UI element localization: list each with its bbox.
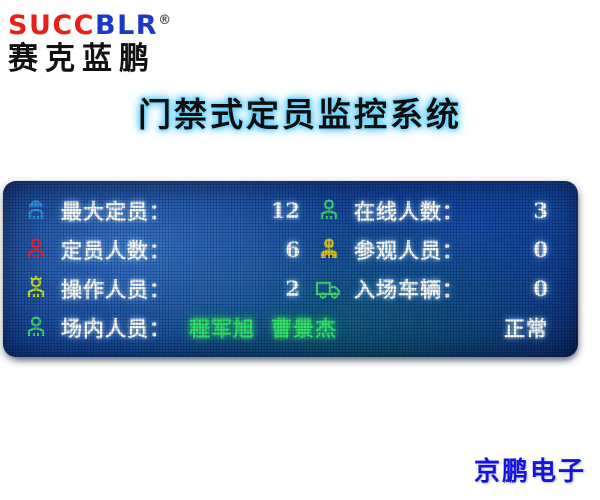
person-hardhat-icon <box>21 196 51 226</box>
led-label: 在线人数： <box>354 196 464 226</box>
person-icon <box>21 235 51 265</box>
person-operator-icon <box>21 274 51 304</box>
led-value: 2 <box>285 276 314 301</box>
onsite-name: 曹景杰 <box>271 313 337 343</box>
led-field-online-count: 在线人数： 3 <box>314 196 568 226</box>
led-display-panel: 最大定员： 12 在线人数： 3 <box>3 181 578 357</box>
led-row-onsite-personnel: 场内人员： 程军旭 曹景杰 正常 <box>21 308 568 347</box>
led-field-max-capacity: 最大定员： 12 <box>21 196 314 226</box>
status-badge: 正常 <box>504 313 568 343</box>
led-label: 定员人数： <box>61 235 171 265</box>
led-label: 操作人员： <box>61 274 171 304</box>
led-label: 参观人员： <box>354 235 464 265</box>
page-root: SUCCBLR® 赛克蓝鹏 门禁式定员监控系统 最 <box>0 0 600 500</box>
led-field-vehicle-count: 入场车辆： 0 <box>314 274 568 304</box>
led-label: 场内人员： <box>61 313 171 343</box>
person-visitor-icon <box>314 235 344 265</box>
led-field-operator-count: 操作人员： 2 <box>21 274 314 304</box>
logo-succ-text: SUCC <box>8 10 95 41</box>
footer-brand-text: 京鹏电子 <box>474 451 586 488</box>
led-row: 操作人员： 2 入场车辆： 0 <box>21 269 568 308</box>
led-label: 最大定员： <box>61 196 171 226</box>
onsite-name-list: 程军旭 曹景杰 <box>189 313 337 343</box>
led-row: 最大定员： 12 在线人数： 3 <box>21 191 568 230</box>
logo-chinese-text: 赛克蓝鹏 <box>8 41 218 78</box>
led-value: 6 <box>285 237 314 262</box>
led-value: 0 <box>533 237 568 262</box>
logo-latin-text: SUCCBLR® <box>8 6 218 41</box>
led-row: 定员人数： 6 参观人员： 0 <box>21 230 568 269</box>
logo-blr-text: BLR <box>95 10 158 41</box>
led-value: 12 <box>271 198 314 223</box>
page-title: 门禁式定员监控系统 <box>0 88 600 136</box>
company-logo: SUCCBLR® 赛克蓝鹏 <box>8 6 218 77</box>
onsite-name: 程军旭 <box>189 313 255 343</box>
led-field-quota-count: 定员人数： 6 <box>21 235 314 265</box>
led-label: 入场车辆： <box>354 274 464 304</box>
led-field-visitor-count: 参观人员： 0 <box>314 235 568 265</box>
truck-icon <box>314 274 344 304</box>
person-icon <box>21 313 51 343</box>
person-icon <box>314 196 344 226</box>
led-value: 3 <box>533 198 568 223</box>
registered-trademark-icon: ® <box>158 13 171 28</box>
led-value: 0 <box>533 276 568 301</box>
